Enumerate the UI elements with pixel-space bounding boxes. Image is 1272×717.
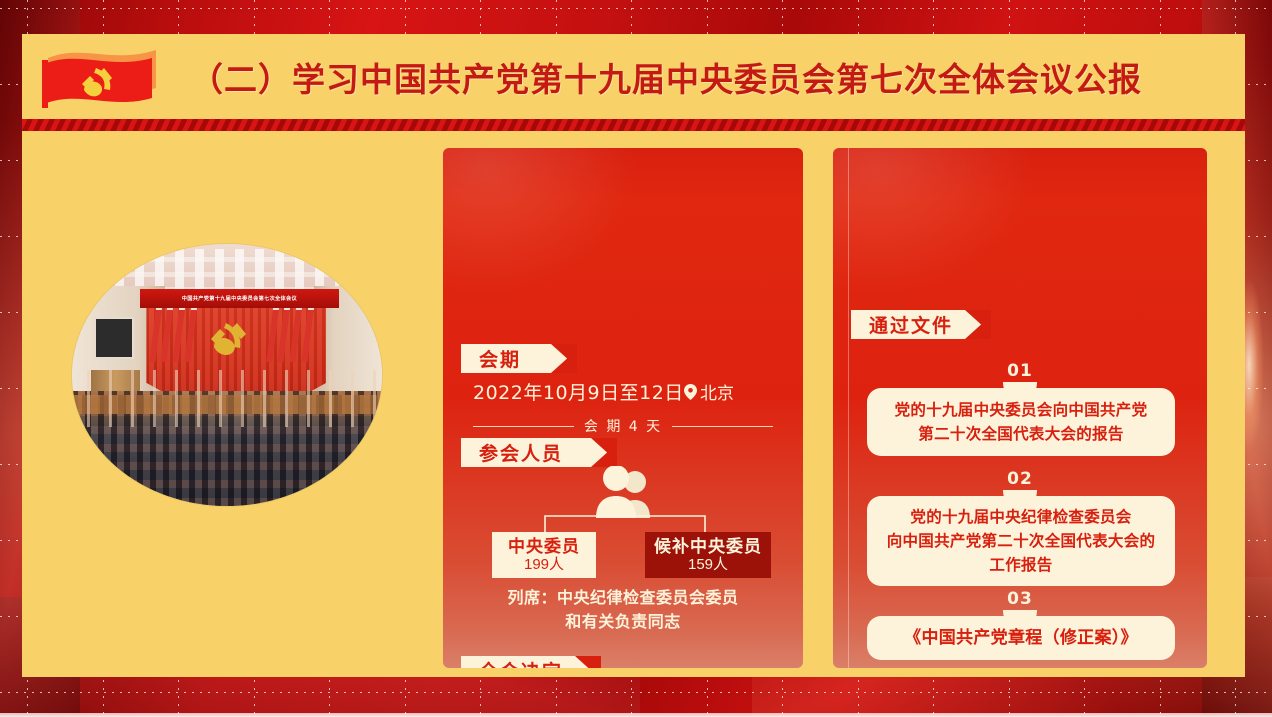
ribbon-session-period: 会期 [461,344,577,373]
plenary-session-photo: 中国共产党第十九届中央委员会第七次全体会议 [72,244,382,506]
ribbon-attendees: 参会人员 [461,438,617,467]
document-number-02: 02 [1003,469,1037,499]
striped-divider [22,119,1245,131]
session-duration: 会 期 4 天 [584,416,662,436]
document-item-01: 党的十九届中央委员会向中国共产党 第二十次全国代表大会的报告 [867,388,1175,456]
approved-documents-card: 通过文件 01 党的十九届中央委员会向中国共产党 第二十次全国代表大会的报告 0… [833,148,1207,668]
ribbon-approved-documents: 通过文件 [851,310,991,339]
document-number-01: 01 [1003,361,1037,391]
attendee-group-alternate-members: 候补中央委员 159人 [645,532,771,578]
document-number-03: 03 [1003,589,1037,619]
session-date-range: 2022年10月9日至12日 [473,378,684,405]
session-city: 北京 [700,379,734,404]
header-bar: （二）学习中国共产党第十九届中央委员会第七次全体会议公报 [22,34,1245,119]
photo-banner-text: 中国共产党第十九届中央委员会第七次全体会议 [140,289,338,309]
attendees-observers: 列席：中央纪律检查委员会委员 和有关负责同志 [461,586,785,634]
location-pin-icon [684,384,697,400]
session-info-card: 会期 2022年10月9日至12日 北京 会 期 4 天 参会人员 [443,148,803,668]
attendee-group-central-committee: 中央委员 199人 [492,532,596,578]
document-item-02: 党的十九届中央纪律检查委员会 向中国共产党第二十次全国代表大会的 工作报告 [867,496,1175,586]
party-emblem-icon [202,315,252,361]
party-flag-icon [34,42,166,114]
session-duration-row: 会 期 4 天 [473,416,773,436]
ribbon-plenum-decision: 全会决定 [461,656,601,668]
document-item-03: 《中国共产党章程（修正案）》 [867,616,1175,660]
session-location: 北京 [684,379,734,404]
page-title: （二）学习中国共产党第十九届中央委员会第七次全体会议公报 [190,53,1142,101]
